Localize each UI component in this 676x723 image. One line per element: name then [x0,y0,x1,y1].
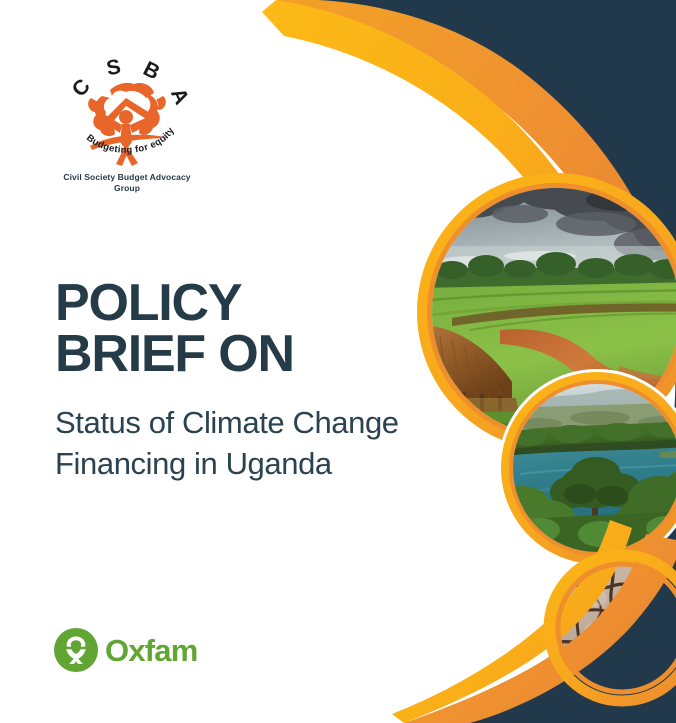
csbag-logo: C S B A G [57,38,197,193]
main-title-line2: BRIEF ON [55,325,294,383]
oxfam-logo: Oxfam [54,628,197,672]
csbag-logo-mark: C S B A G [62,38,192,168]
oxfam-wordmark: Oxfam [105,635,197,666]
csbag-caption-line2: Group [114,183,140,193]
main-title-line1: POLICY [55,274,241,332]
page-subtitle: Status of Climate Change Financing in Ug… [55,402,415,484]
page-title: POLICY BRIEF ON [55,278,415,380]
left-content-column: C S B A G [0,0,420,723]
policy-brief-cover: C S B A G [0,0,676,723]
oxfam-person-icon [54,628,98,672]
title-block: POLICY BRIEF ON Status of Climate Change… [55,278,415,484]
csbag-caption: Civil Society Budget Advocacy Group [57,172,197,193]
csbag-tree-figure-icon: C S B A G [62,38,192,168]
csbag-caption-line1: Civil Society Budget Advocacy [63,172,190,182]
